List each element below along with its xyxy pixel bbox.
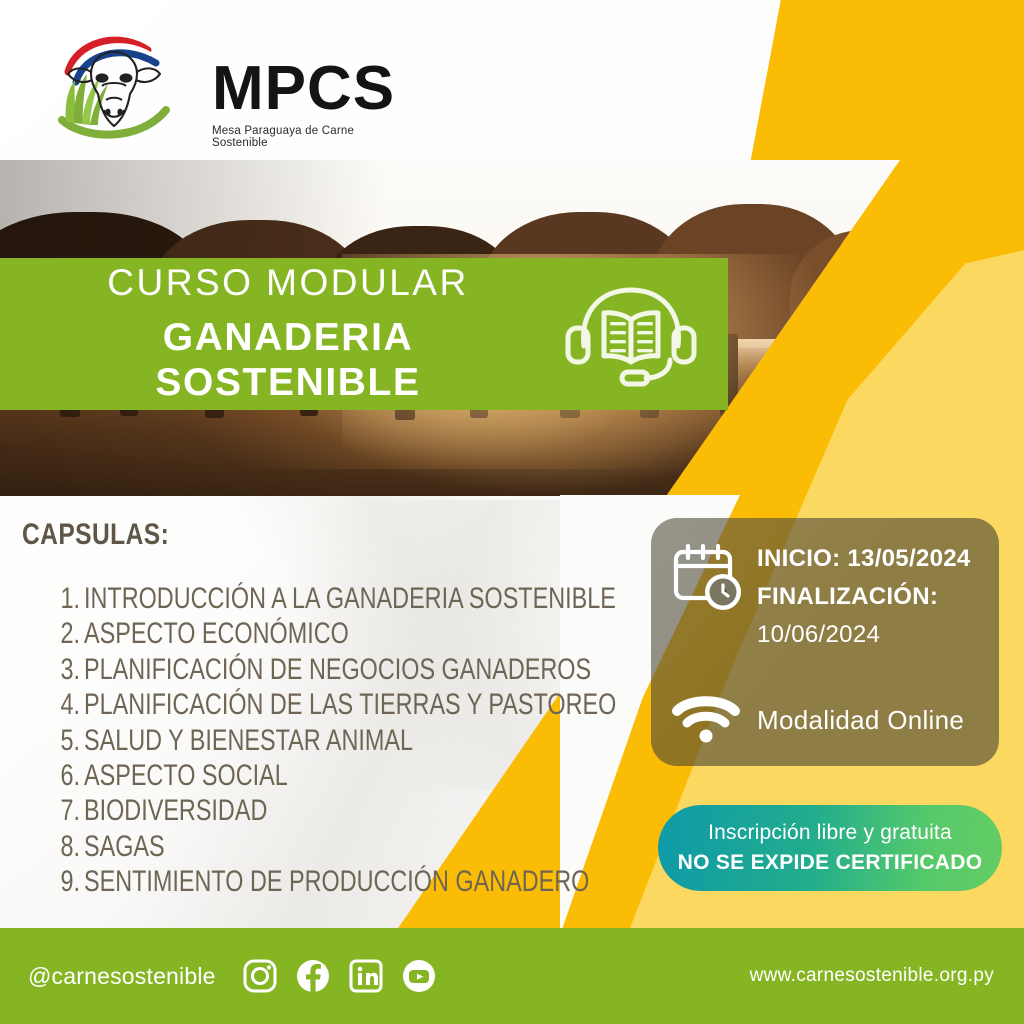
start-date: INICIO: 13/05/2024: [757, 540, 971, 578]
list-item-label: INTRODUCCIÓN A LA GANADERIA SOSTENIBLE: [84, 583, 616, 615]
list-item: 8. SAGAS: [42, 831, 682, 863]
poster-canvas: MPCS Mesa Paraguaya de Carne Sostenible …: [0, 0, 1024, 1024]
list-item-label: PLANIFICACIÓN DE NEGOCIOS GANADEROS: [84, 654, 591, 686]
course-info-card: INICIO: 13/05/2024 FINALIZACIÓN: 10/06/2…: [651, 518, 999, 766]
course-banner: CURSO MODULAR GANADERIA SOSTENIBLE: [0, 258, 728, 410]
capsules-heading: CAPSULAS:: [22, 518, 169, 552]
logo-wordmark: MPCS Mesa Paraguaya de Carne Sostenible: [212, 58, 395, 149]
list-item: 1. INTRODUCCIÓN A LA GANADERIA SOSTENIBL…: [42, 583, 682, 615]
registration-line-2: NO SE EXPIDE CERTIFICADO: [678, 850, 983, 876]
list-item-number: 2.: [50, 618, 80, 650]
list-item-number: 5.: [50, 725, 80, 757]
list-item: 4. PLANIFICACIÓN DE LAS TIERRAS Y PASTOR…: [42, 689, 682, 721]
list-item-number: 1.: [50, 583, 80, 615]
logo-acronym: MPCS: [212, 58, 395, 120]
list-item: 7. BIODIVERSIDAD: [42, 795, 682, 827]
list-item-label: SALUD Y BIENESTAR ANIMAL: [84, 725, 413, 757]
instagram-icon[interactable]: [242, 958, 278, 994]
youtube-icon[interactable]: [401, 958, 437, 994]
calendar-clock-icon: [671, 540, 745, 614]
dates-text: INICIO: 13/05/2024 FINALIZACIÓN: 10/06/2…: [757, 540, 971, 654]
social-links: [242, 958, 437, 994]
list-item: 3. PLANIFICACIÓN DE NEGOCIOS GANADEROS: [42, 654, 682, 686]
footer-bar: @carnesostenible: [0, 928, 1024, 1024]
wifi-icon: [671, 694, 741, 746]
social-handle: @carnesostenible: [28, 963, 216, 990]
list-item-label: ASPECTO ECONÓMICO: [84, 618, 349, 650]
modality-row: Modalidad Online: [671, 694, 964, 746]
registration-badge: Inscripción libre y gratuita NO SE EXPID…: [658, 805, 1002, 891]
headset-book-icon: [546, 274, 716, 394]
list-item: 6. ASPECTO SOCIAL: [42, 760, 682, 792]
cow-head-grass-flag-logo-icon: [44, 24, 184, 152]
mpcs-logo: MPCS Mesa Paraguaya de Carne Sostenible: [44, 24, 384, 152]
dates-row: INICIO: 13/05/2024 FINALIZACIÓN: 10/06/2…: [671, 540, 971, 654]
list-item-label: ASPECTO SOCIAL: [84, 760, 288, 792]
list-item-number: 4.: [50, 689, 80, 721]
list-item-label: PLANIFICACIÓN DE LAS TIERRAS Y PASTOREO: [84, 689, 616, 721]
linkedin-icon[interactable]: [348, 958, 384, 994]
list-item-label: BIODIVERSIDAD: [84, 795, 267, 827]
list-item: 2. ASPECTO ECONÓMICO: [42, 618, 682, 650]
list-item-label: SAGAS: [84, 831, 165, 863]
end-date: 10/06/2024: [757, 616, 971, 654]
registration-line-1: Inscripción libre y gratuita: [708, 820, 952, 846]
end-date-label: FINALIZACIÓN:: [757, 578, 971, 616]
course-title: GANADERIA SOSTENIBLE: [30, 316, 546, 406]
list-item-number: 3.: [50, 654, 80, 686]
list-item-number: 7.: [50, 795, 80, 827]
course-kicker: CURSO MODULAR: [30, 262, 546, 305]
list-item-number: 6.: [50, 760, 80, 792]
facebook-icon[interactable]: [295, 958, 331, 994]
capsules-list: 1. INTRODUCCIÓN A LA GANADERIA SOSTENIBL…: [42, 583, 682, 902]
website-url[interactable]: www.carnesostenible.org.py: [750, 965, 994, 987]
list-item-number: 9.: [50, 866, 80, 898]
list-item-number: 8.: [50, 831, 80, 863]
modality-text: Modalidad Online: [757, 705, 964, 736]
logo-tagline: Mesa Paraguaya de Carne Sostenible: [212, 125, 395, 149]
list-item: 5. SALUD Y BIENESTAR ANIMAL: [42, 725, 682, 757]
list-item: 9. SENTIMIENTO DE PRODUCCIÓN GANADERO: [42, 866, 682, 898]
course-banner-text: CURSO MODULAR GANADERIA SOSTENIBLE: [0, 262, 546, 406]
list-item-label: SENTIMIENTO DE PRODUCCIÓN GANADERO: [84, 866, 589, 898]
